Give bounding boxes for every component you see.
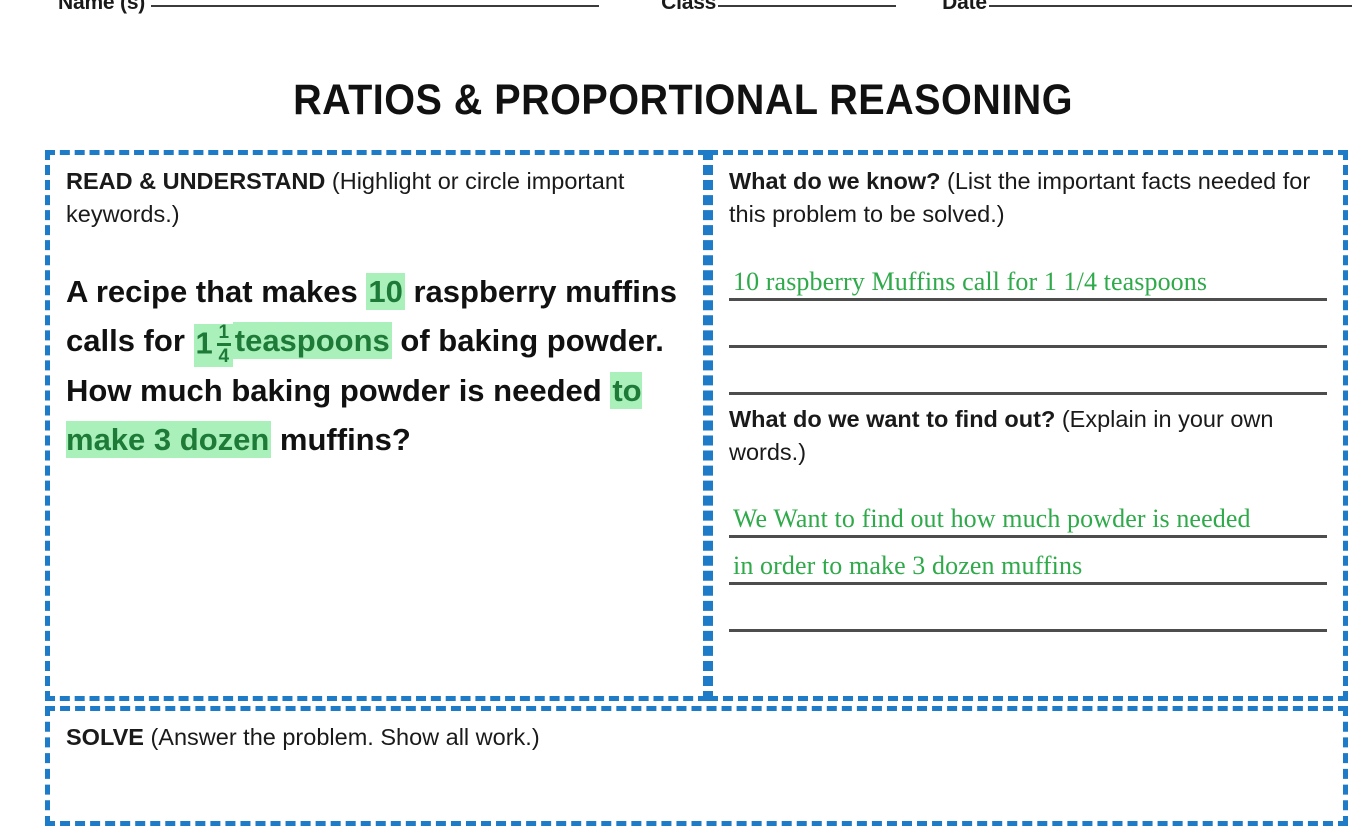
name-input-rule[interactable]	[151, 4, 599, 7]
solve-panel: SOLVE (Answer the problem. Show all work…	[45, 706, 1348, 826]
mixed-number-whole: 1	[196, 326, 213, 361]
question-2-answer-block: We Want to find out how much powder is n…	[729, 491, 1327, 632]
spacer-between-questions	[729, 395, 1327, 403]
answer-line-text: in order to make 3 dozen muffins	[733, 551, 1082, 581]
date-field[interactable]: Date	[942, 0, 1352, 15]
date-label: Date	[942, 0, 987, 15]
read-heading-bold: READ & UNDERSTAND	[66, 168, 325, 194]
solve-heading-bold: SOLVE	[66, 724, 144, 750]
worksheet-header-row: Name (s) Class Date	[0, 0, 1366, 20]
name-field[interactable]: Name (s)	[58, 0, 599, 15]
problem-segment-4: muffins?	[271, 422, 411, 457]
answer-line[interactable]	[729, 301, 1327, 348]
mixed-number-one-and-one-quarter: 114	[194, 324, 233, 367]
highlight-teaspoons: teaspoons	[233, 322, 392, 359]
solve-heading-paren: (Answer the problem. Show all work.)	[150, 724, 539, 750]
fraction-denominator: 4	[217, 347, 230, 366]
question-2-heading: What do we want to find out? (Explain in…	[729, 403, 1327, 470]
spacer-after-question-1	[729, 232, 1327, 254]
read-panel-heading: READ & UNDERSTAND (Highlight or circle i…	[66, 165, 687, 232]
question-1-answer-block: 10 raspberry Muffins call for 1 1/4 teas…	[729, 254, 1327, 395]
answer-line-text: We Want to find out how much powder is n…	[733, 504, 1251, 534]
what-we-know-panel: What do we know? (List the important fac…	[708, 150, 1348, 701]
solve-panel-heading: SOLVE (Answer the problem. Show all work…	[66, 721, 1327, 754]
word-problem-text: A recipe that makes 10 raspberry muffins…	[66, 268, 687, 465]
answer-line-text: 10 raspberry Muffins call for 1 1/4 teas…	[733, 267, 1207, 297]
highlight-ten: 10	[366, 273, 404, 310]
fraction-one-quarter: 14	[217, 323, 231, 366]
question-1-heading: What do we know? (List the important fac…	[729, 165, 1327, 232]
class-field[interactable]: Class	[661, 0, 896, 15]
class-label: Class	[661, 0, 716, 15]
page-title: RATIOS & PROPORTIONAL REASONING	[55, 76, 1312, 125]
answer-line[interactable]: 10 raspberry Muffins call for 1 1/4 teas…	[729, 254, 1327, 301]
question-1-bold: What do we know?	[729, 168, 941, 194]
date-input-rule[interactable]	[989, 4, 1352, 7]
name-label: Name (s)	[58, 0, 145, 15]
read-panel-inner: READ & UNDERSTAND (Highlight or circle i…	[50, 155, 703, 465]
problem-segment-1: A recipe that makes	[66, 274, 366, 309]
answer-line[interactable]: in order to make 3 dozen muffins	[729, 538, 1327, 585]
answer-line[interactable]: We Want to find out how much powder is n…	[729, 491, 1327, 538]
solve-panel-inner: SOLVE (Answer the problem. Show all work…	[50, 711, 1343, 754]
know-panel-inner: What do we know? (List the important fac…	[713, 155, 1343, 632]
answer-line[interactable]	[729, 585, 1327, 632]
answer-line[interactable]	[729, 348, 1327, 395]
spacer-after-question-2	[729, 469, 1327, 491]
fraction-numerator: 1	[217, 323, 230, 342]
class-input-rule[interactable]	[718, 4, 896, 7]
question-2-bold: What do we want to find out?	[729, 406, 1055, 432]
read-and-understand-panel: READ & UNDERSTAND (Highlight or circle i…	[45, 150, 708, 701]
